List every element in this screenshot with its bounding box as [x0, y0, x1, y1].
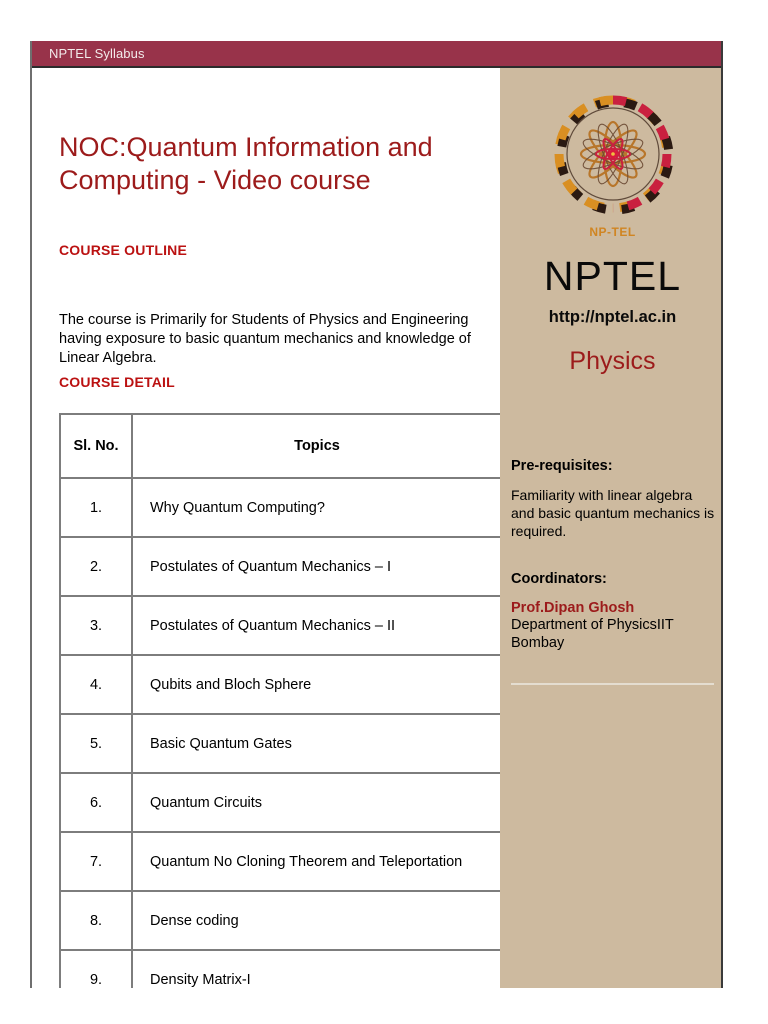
coordinators-block: Coordinators: Prof.Dipan Ghosh Departmen…	[511, 571, 716, 652]
coordinators-heading: Coordinators:	[511, 571, 716, 587]
cell-topic-text: Why Quantum Computing?	[133, 500, 501, 516]
table-row: 1. Why Quantum Computing?	[60, 478, 502, 537]
window-title-label: NPTEL Syllabus	[49, 46, 145, 61]
nptel-brand: NPTEL	[500, 253, 723, 300]
cell-sl-no: 4.	[60, 655, 132, 714]
cell-sl-no: 5.	[60, 714, 132, 773]
cell-topic: Dense coding	[132, 891, 502, 950]
main-content: NOC:Quantum Information and Computing - …	[32, 68, 500, 988]
table-row: 8. Dense coding	[60, 891, 502, 950]
nptel-logo-label: NP-TEL	[537, 225, 689, 239]
cell-sl-no: 6.	[60, 773, 132, 832]
subject-label: Physics	[500, 347, 723, 376]
table-header-row: Sl. No. Topics	[60, 414, 502, 478]
cell-topic: Postulates of Quantum Mechanics – I	[132, 537, 502, 596]
cell-topic-text: Postulates of Quantum Mechanics – I	[133, 559, 501, 575]
coordinator-name: Prof.Dipan Ghosh	[511, 600, 716, 616]
cell-topic-text: Dense coding	[133, 913, 501, 929]
cell-sl-no: 7.	[60, 832, 132, 891]
table-row: 7. Quantum No Cloning Theorem and Telepo…	[60, 832, 502, 891]
cell-topic-text: Quantum Circuits	[133, 795, 501, 811]
sidebar-divider	[511, 683, 714, 685]
table-row: 4. Qubits and Bloch Sphere	[60, 655, 502, 714]
cell-topic: Why Quantum Computing?	[132, 478, 502, 537]
course-detail-heading: COURSE DETAIL	[59, 374, 175, 390]
window-titlebar: NPTEL Syllabus	[32, 41, 723, 68]
cell-topic: Basic Quantum Gates	[132, 714, 502, 773]
cell-topic: Density Matrix-I	[132, 950, 502, 988]
syllabus-page: NPTEL Syllabus NOC:Quantum Information a…	[30, 41, 723, 988]
cell-sl-no: 2.	[60, 537, 132, 596]
cell-topic: Qubits and Bloch Sphere	[132, 655, 502, 714]
cell-topic: Quantum No Cloning Theorem and Teleporta…	[132, 832, 502, 891]
cell-topic-text: Quantum No Cloning Theorem and Teleporta…	[133, 854, 501, 870]
table-row: 2. Postulates of Quantum Mechanics – I	[60, 537, 502, 596]
cell-topic-text: Qubits and Bloch Sphere	[133, 677, 501, 693]
cell-topic: Postulates of Quantum Mechanics – II	[132, 596, 502, 655]
nptel-logo-icon	[537, 82, 689, 234]
table-row: 6. Quantum Circuits	[60, 773, 502, 832]
cell-topic-text: Basic Quantum Gates	[133, 736, 501, 752]
table-row: 9. Density Matrix-I	[60, 950, 502, 988]
table-row: 5. Basic Quantum Gates	[60, 714, 502, 773]
page-title: NOC:Quantum Information and Computing - …	[59, 131, 479, 197]
cell-topic-text: Density Matrix-I	[133, 972, 501, 988]
course-outline-text: The course is Primarily for Students of …	[59, 311, 499, 368]
prerequisites-text: Familiarity with linear algebra and basi…	[511, 486, 716, 540]
column-header-topics: Topics	[132, 414, 502, 478]
cell-sl-no: 9.	[60, 950, 132, 988]
cell-sl-no: 1.	[60, 478, 132, 537]
cell-topic: Quantum Circuits	[132, 773, 502, 832]
cell-sl-no: 8.	[60, 891, 132, 950]
cell-topic-text: Postulates of Quantum Mechanics – II	[133, 618, 501, 634]
prerequisites-heading: Pre-requisites:	[511, 458, 716, 474]
table-row: 3. Postulates of Quantum Mechanics – II	[60, 596, 502, 655]
cell-sl-no: 3.	[60, 596, 132, 655]
nptel-logo: NP-TEL	[537, 82, 689, 234]
prerequisites-block: Pre-requisites: Familiarity with linear …	[511, 458, 716, 540]
sidebar: NP-TEL NPTEL http://nptel.ac.in Physics …	[500, 68, 723, 988]
coordinator-department: Department of PhysicsIIT Bombay	[511, 616, 716, 652]
table-body: 1. Why Quantum Computing? 2. Postulates …	[60, 478, 502, 988]
course-detail-table: Sl. No. Topics 1. Why Quantum Computing?…	[59, 413, 503, 988]
nptel-url[interactable]: http://nptel.ac.in	[500, 308, 723, 327]
course-outline-heading: COURSE OUTLINE	[59, 242, 187, 258]
column-header-sl-no: Sl. No.	[60, 414, 132, 478]
